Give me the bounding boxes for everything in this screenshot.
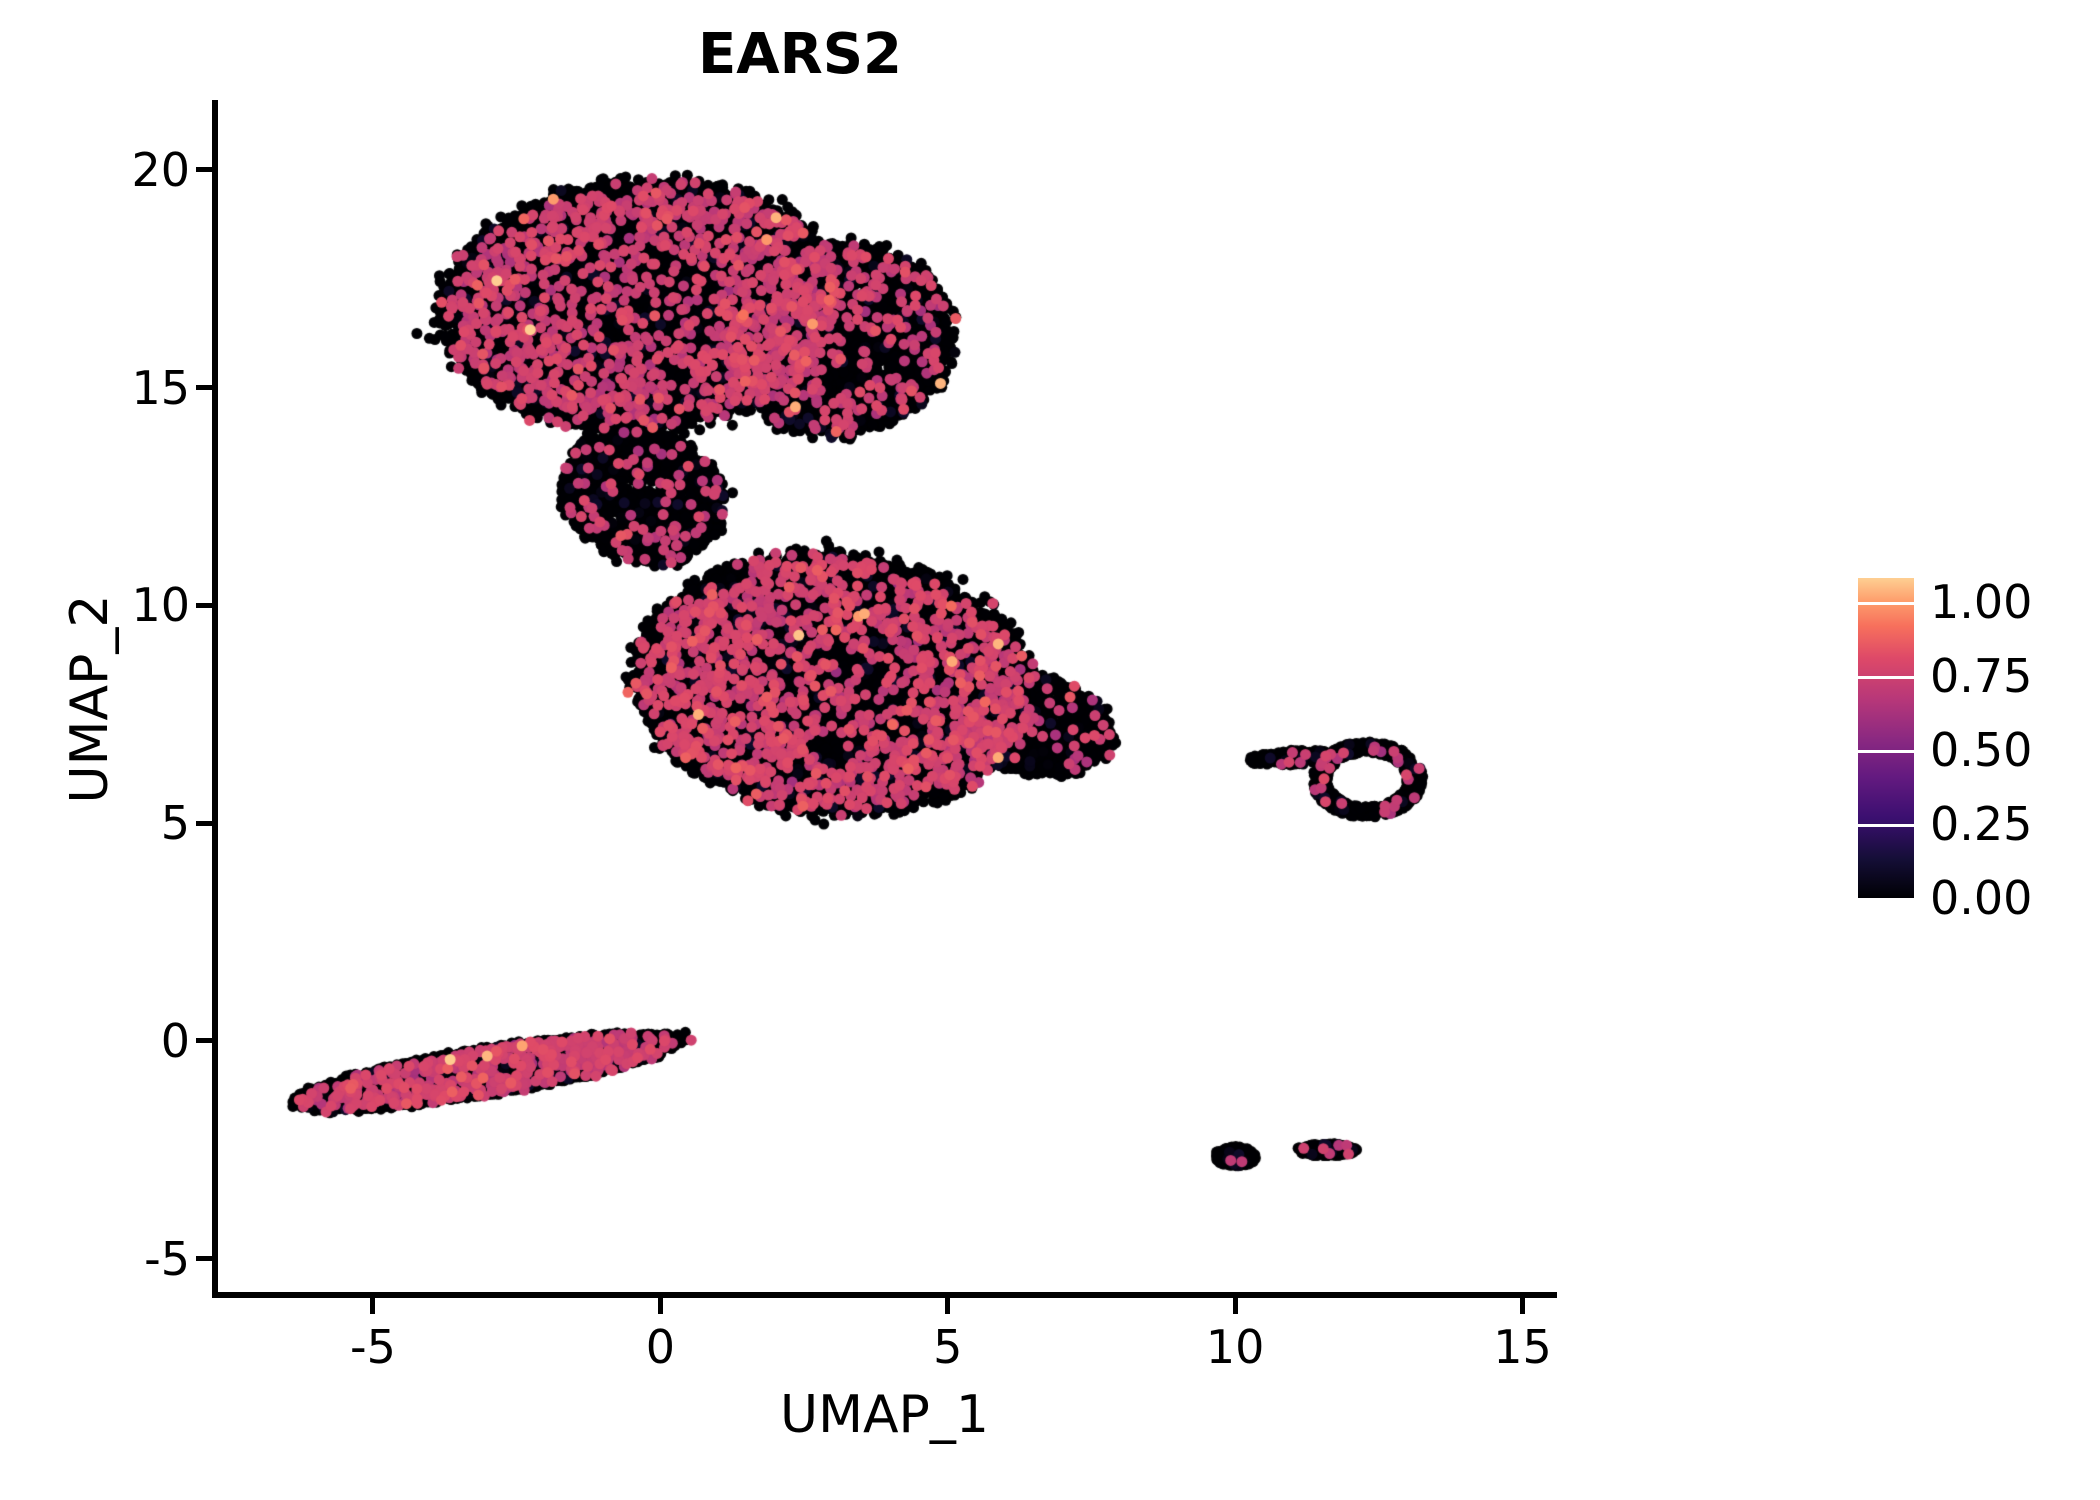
page-title: EARS2 [0, 22, 1600, 87]
y-tick-mark [196, 1256, 212, 1261]
y-tick-label: -5 [144, 1232, 190, 1286]
colorbar-tick-mark [1858, 750, 1914, 753]
y-tick-mark [196, 603, 212, 608]
colorbar-tick-label: 1.00 [1930, 575, 2032, 629]
colorbar-tick-label: 0.00 [1930, 871, 2032, 925]
x-tick-label: 0 [646, 1320, 675, 1374]
colorbar-tick-label: 0.75 [1930, 649, 2032, 703]
y-tick-mark [196, 167, 212, 172]
colorbar-tick-mark [1858, 824, 1914, 827]
colorbar-tick-label: 0.25 [1930, 797, 2032, 851]
x-tick-label: 15 [1493, 1320, 1552, 1374]
umap-feature-plot-figure: EARS2 -505101520 -5051015 UMAP_1 UMAP_2 … [0, 0, 2100, 1500]
x-tick-mark [370, 1298, 375, 1314]
x-tick-label: -5 [350, 1320, 396, 1374]
y-axis-spine [212, 100, 218, 1298]
x-tick-mark [1233, 1298, 1238, 1314]
x-axis-label: UMAP_1 [212, 1385, 1557, 1445]
colorbar-gradient [1858, 578, 1914, 898]
x-tick-mark [658, 1298, 663, 1314]
x-tick-mark [945, 1298, 950, 1314]
colorbar: 0.000.250.500.751.00 [1858, 578, 2088, 900]
x-axis-spine [212, 1292, 1557, 1298]
y-tick-label: 10 [131, 578, 190, 632]
y-tick-mark [196, 821, 212, 826]
plot-axes-area: -505101520 -5051015 [212, 100, 1557, 1298]
scatter-plot-canvas [212, 100, 1557, 1298]
y-tick-label: 5 [161, 796, 190, 850]
colorbar-tick-mark [1858, 602, 1914, 605]
x-tick-label: 10 [1206, 1320, 1265, 1374]
y-tick-label: 20 [131, 143, 190, 197]
colorbar-tick-label: 0.50 [1930, 723, 2032, 777]
y-tick-label: 15 [131, 361, 190, 415]
x-tick-label: 5 [933, 1320, 962, 1374]
x-tick-mark [1520, 1298, 1525, 1314]
y-tick-mark [196, 1038, 212, 1043]
y-tick-mark [196, 385, 212, 390]
y-tick-label: 0 [161, 1014, 190, 1068]
y-axis-label: UMAP_2 [60, 100, 120, 1298]
colorbar-tick-mark [1858, 676, 1914, 679]
